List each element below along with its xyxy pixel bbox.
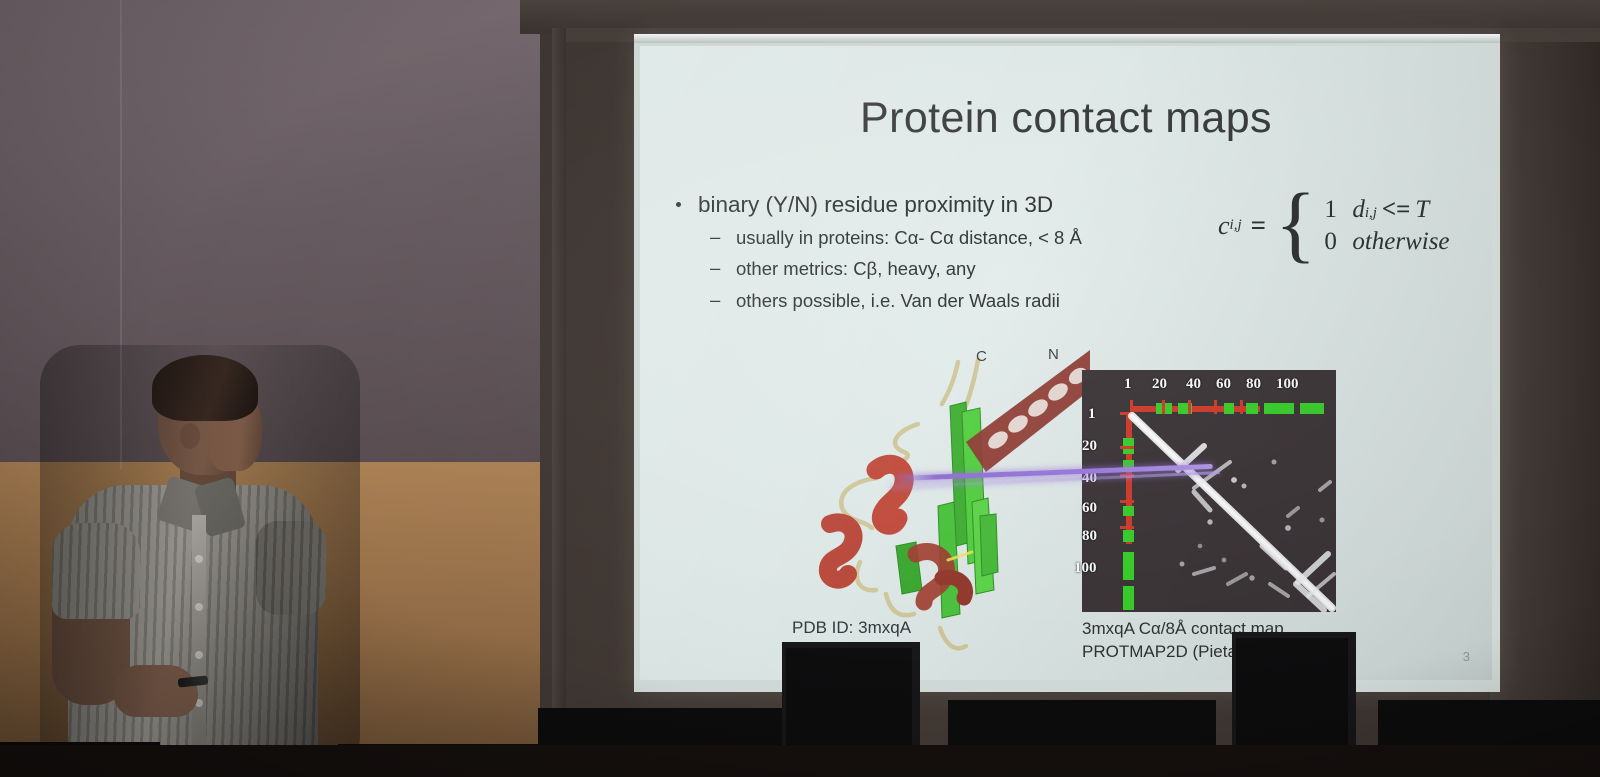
formula-lhs: c — [1218, 211, 1230, 241]
bullet-list: binary (Y/N) residue proximity in 3D – u… — [668, 192, 1188, 319]
cmap-y-tick: 20 — [1082, 438, 1097, 455]
presenter-ear — [180, 423, 200, 449]
c-terminus-label: C — [976, 348, 987, 365]
contact-map-figure: 1 20 40 60 80 100 1 20 40 60 80 100 — [1082, 370, 1336, 612]
bullet-level1: binary (Y/N) residue proximity in 3D — [668, 192, 1188, 218]
bullet-dash-icon: – — [710, 287, 720, 313]
cmap-y-tick: 100 — [1074, 560, 1097, 577]
wall-pillar — [552, 28, 566, 728]
bullet-text: binary (Y/N) residue proximity in 3D — [698, 192, 1053, 217]
presenter-hand — [114, 665, 198, 717]
formula-case1-operator: <= — [1382, 196, 1411, 224]
page-title: Protein contact maps — [640, 94, 1492, 143]
protein-cartoon-svg — [790, 346, 1090, 656]
presenter-sleeve-right — [256, 521, 326, 615]
formula-lhs-subscript: i,j — [1230, 217, 1242, 234]
bullet-dot-icon — [676, 202, 681, 207]
cmap-x-tick: 100 — [1276, 376, 1299, 393]
formula-case-1: 1 di,j <= T — [1324, 196, 1449, 224]
formula-case1-threshold: T — [1415, 196, 1429, 224]
formula-case-2: 0 otherwise — [1324, 228, 1449, 256]
presenter-sleeve-left — [52, 523, 140, 619]
cmap-x-tick: 60 — [1216, 376, 1231, 393]
formula-case1-condition: d — [1352, 196, 1365, 224]
formula-case1-subscript: i,j — [1365, 205, 1377, 222]
cmap-x-tick: 40 — [1186, 376, 1201, 393]
contact-map-canvas — [1082, 370, 1336, 612]
dark-wall-right — [1490, 0, 1600, 777]
desk-row — [0, 745, 1600, 777]
projection-screen-top-bar — [634, 34, 1500, 43]
cmap-x-tick: 20 — [1152, 376, 1167, 393]
cmap-x-tick: 80 — [1246, 376, 1261, 393]
bullet-dash-icon: – — [710, 255, 720, 281]
pdb-id-caption: PDB ID: 3mxqA — [792, 618, 911, 638]
cmap-y-tick: 60 — [1082, 500, 1097, 517]
protein-structure-figure: C N — [790, 346, 1090, 656]
formula-equals: = — [1251, 210, 1266, 241]
bullet-text: other metrics: Cβ, heavy, any — [736, 258, 976, 279]
formula-case1-value: 1 — [1324, 196, 1352, 224]
bullet-dash-icon: – — [710, 224, 720, 250]
formula-brace: { — [1275, 190, 1316, 257]
lecture-photo: Protein contact maps binary (Y/N) residu… — [0, 0, 1600, 777]
formula-case2-condition: otherwise — [1352, 228, 1449, 256]
presenter-hair — [152, 355, 258, 421]
slide: Protein contact maps binary (Y/N) residu… — [640, 46, 1492, 680]
cmap-y-tick: 80 — [1082, 528, 1097, 545]
cmap-y-tick: 1 — [1088, 406, 1096, 423]
contact-definition-formula: ci,j = { 1 di,j <= T 0 otherwise — [1218, 194, 1450, 257]
slide-number: 3 — [1463, 649, 1470, 664]
shirt-button — [195, 651, 203, 659]
bullet-text: usually in proteins: Cα- Cα distance, < … — [736, 227, 1082, 248]
bullet-level2: – usually in proteins: Cα- Cα distance, … — [668, 225, 1188, 251]
formula-case2-value: 0 — [1324, 228, 1352, 256]
contact-map-svg — [1082, 370, 1336, 612]
cmap-x-tick: 1 — [1124, 376, 1132, 393]
shirt-button — [195, 555, 203, 563]
shirt-button — [195, 603, 203, 611]
presenter — [40, 345, 360, 777]
bullet-text: others possible, i.e. Van der Waals radi… — [736, 290, 1060, 311]
n-terminus-label: N — [1048, 346, 1059, 363]
bullet-level2: – others possible, i.e. Van der Waals ra… — [668, 288, 1188, 314]
bullet-level2: – other metrics: Cβ, heavy, any — [668, 256, 1188, 282]
